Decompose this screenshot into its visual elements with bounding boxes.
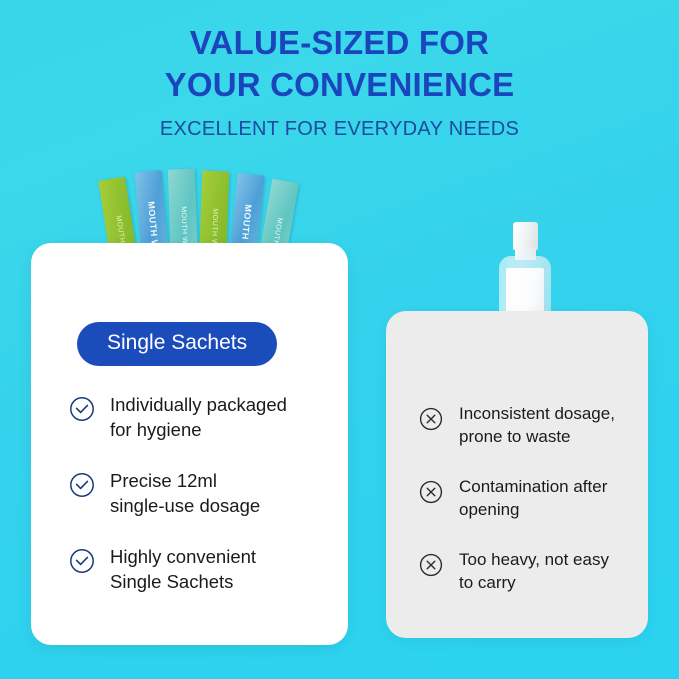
list-item-line2: prone to waste	[459, 427, 571, 446]
list-item-line2: opening	[459, 500, 520, 519]
list-item: Too heavy, not easyto carry	[418, 549, 679, 594]
list-item-line2: for hygiene	[110, 419, 202, 440]
list-item-line1: Inconsistent dosage,	[459, 404, 615, 423]
list-item-label: Precise 12mlsingle-use dosage	[110, 469, 260, 518]
cons-list: Inconsistent dosage,prone to waste Conta…	[386, 403, 679, 623]
page-title: VALUE-SIZED FOR YOUR CONVENIENCE	[0, 22, 679, 106]
list-item-label: Inconsistent dosage,prone to waste	[459, 403, 615, 448]
pros-list: Individually packagedfor hygiene Precise…	[31, 393, 386, 622]
headline-line-2: YOUR CONVENIENCE	[0, 64, 679, 106]
check-circle-icon	[69, 396, 95, 422]
list-item-label: Individually packagedfor hygiene	[110, 393, 287, 442]
check-circle-icon	[69, 472, 95, 498]
list-item: Individually packagedfor hygiene	[69, 393, 386, 442]
list-item-line1: Too heavy, not easy	[459, 550, 609, 569]
x-circle-icon	[418, 406, 444, 432]
list-item: Contamination afteropening	[418, 476, 679, 521]
single-sachets-card: Single Sachets Individually packagedfor …	[31, 243, 348, 645]
bottle-drawbacks-card: Inconsistent dosage,prone to waste Conta…	[386, 311, 648, 638]
list-item-label: Too heavy, not easyto carry	[459, 549, 609, 594]
list-item-label: Contamination afteropening	[459, 476, 607, 521]
list-item-line1: Highly convenient	[110, 546, 256, 567]
list-item: Highly convenientSingle Sachets	[69, 545, 386, 594]
list-item-line2: to carry	[459, 573, 516, 592]
check-circle-icon	[69, 548, 95, 574]
list-item-line1: Contamination after	[459, 477, 607, 496]
page-subtitle: EXCELLENT FOR EVERYDAY NEEDS	[0, 118, 679, 141]
x-circle-icon	[418, 479, 444, 505]
list-item-line2: Single Sachets	[110, 571, 233, 592]
promo-poster: VALUE-SIZED FOR YOUR CONVENIENCE EXCELLE…	[0, 0, 679, 679]
list-item: Inconsistent dosage,prone to waste	[418, 403, 679, 448]
status-badge: Single Sachets	[77, 322, 277, 366]
x-circle-icon	[418, 552, 444, 578]
bottle-cap	[513, 222, 538, 250]
list-item-line1: Individually packaged	[110, 394, 287, 415]
list-item-label: Highly convenientSingle Sachets	[110, 545, 256, 594]
header: VALUE-SIZED FOR YOUR CONVENIENCE EXCELLE…	[0, 22, 679, 141]
list-item: Precise 12mlsingle-use dosage	[69, 469, 386, 518]
headline-line-1: VALUE-SIZED FOR	[190, 24, 489, 61]
list-item-line2: single-use dosage	[110, 495, 260, 516]
list-item-line1: Precise 12ml	[110, 470, 217, 491]
